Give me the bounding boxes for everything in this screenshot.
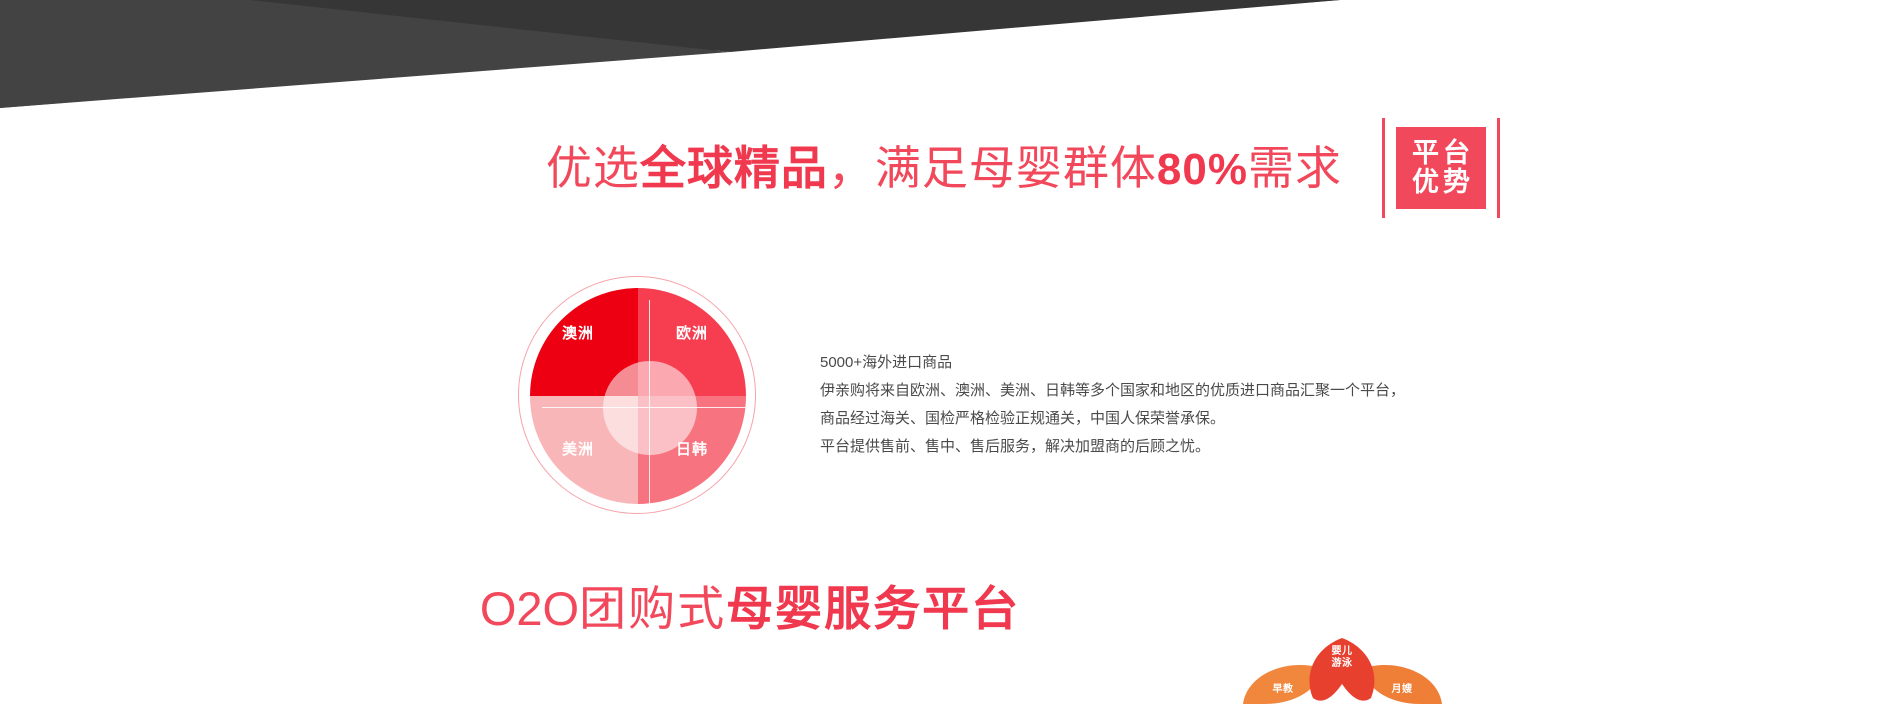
headline-comma: ， xyxy=(828,142,875,194)
headline-strong-global: 全球精品 xyxy=(640,142,828,194)
headline-lead: 优选 xyxy=(546,142,640,194)
badge-bar-right xyxy=(1497,118,1500,218)
chart-donut: 澳洲 欧洲 美洲 日韩 xyxy=(530,288,746,504)
services-petals-graphic: 早教 月嫂 婴儿 游泳 xyxy=(1235,638,1450,704)
headline-tail: 需求 xyxy=(1248,142,1342,194)
petal-label-youyong: 游泳 xyxy=(1312,658,1372,670)
pie-label-rihan: 日韩 xyxy=(676,438,708,459)
copy-line-2: 伊亲购将来自欧洲、澳洲、美洲、日韩等多个国家和地区的优质进口商品汇聚一个平台， xyxy=(820,378,1440,404)
page-title: 优选全球精品，满足母婴群体80%需求 xyxy=(546,145,1342,192)
badge-line-1: 平台 xyxy=(1408,139,1474,168)
headline-row: 优选全球精品，满足母婴群体80%需求 平台 优势 xyxy=(0,128,1500,208)
platform-advantage-badge: 平台 优势 xyxy=(1382,118,1500,218)
headline-mid: 满足母婴群体 xyxy=(875,142,1157,194)
headline-percent: 80% xyxy=(1157,145,1248,194)
petal-label-zaojiao: 早教 xyxy=(1253,684,1313,696)
pie-label-meizhou: 美洲 xyxy=(562,438,594,459)
o2o-bold-text: 母婴服务平台 xyxy=(726,582,1020,635)
o2o-text: O2O xyxy=(480,582,579,635)
pie-label-ouzhou: 欧洲 xyxy=(676,322,708,343)
badge-box: 平台 优势 xyxy=(1396,127,1486,209)
petal-label-yuesao: 月嫂 xyxy=(1372,684,1432,696)
petal-label-yinger: 婴儿 xyxy=(1312,646,1372,658)
page-root: 优选全球精品，满足母婴群体80%需求 平台 优势 澳洲 欧洲 美洲 日韩 xyxy=(0,0,1880,704)
copy-line-1: 5000+海外进口商品 xyxy=(820,350,1440,376)
badge-line-2: 优势 xyxy=(1408,168,1474,197)
regions-pie-chart: 澳洲 欧洲 美洲 日韩 xyxy=(518,276,758,516)
description-block: 5000+海外进口商品 伊亲购将来自欧洲、澳洲、美洲、日韩等多个国家和地区的优质… xyxy=(820,350,1440,462)
o2o-thin-text: 团购式 xyxy=(579,582,726,635)
section-title-o2o: O2O团购式母婴服务平台 xyxy=(0,585,1500,632)
pie-label-aozhou: 澳洲 xyxy=(562,322,594,343)
top-diagonal-banner xyxy=(0,0,1880,130)
copy-line-4: 平台提供售前、售中、售后服务，解决加盟商的后顾之忧。 xyxy=(820,434,1440,460)
copy-line-3: 商品经过海关、国检严格检验正规通关，中国人保荣誉承保。 xyxy=(820,406,1440,432)
badge-bar-left xyxy=(1382,118,1385,218)
